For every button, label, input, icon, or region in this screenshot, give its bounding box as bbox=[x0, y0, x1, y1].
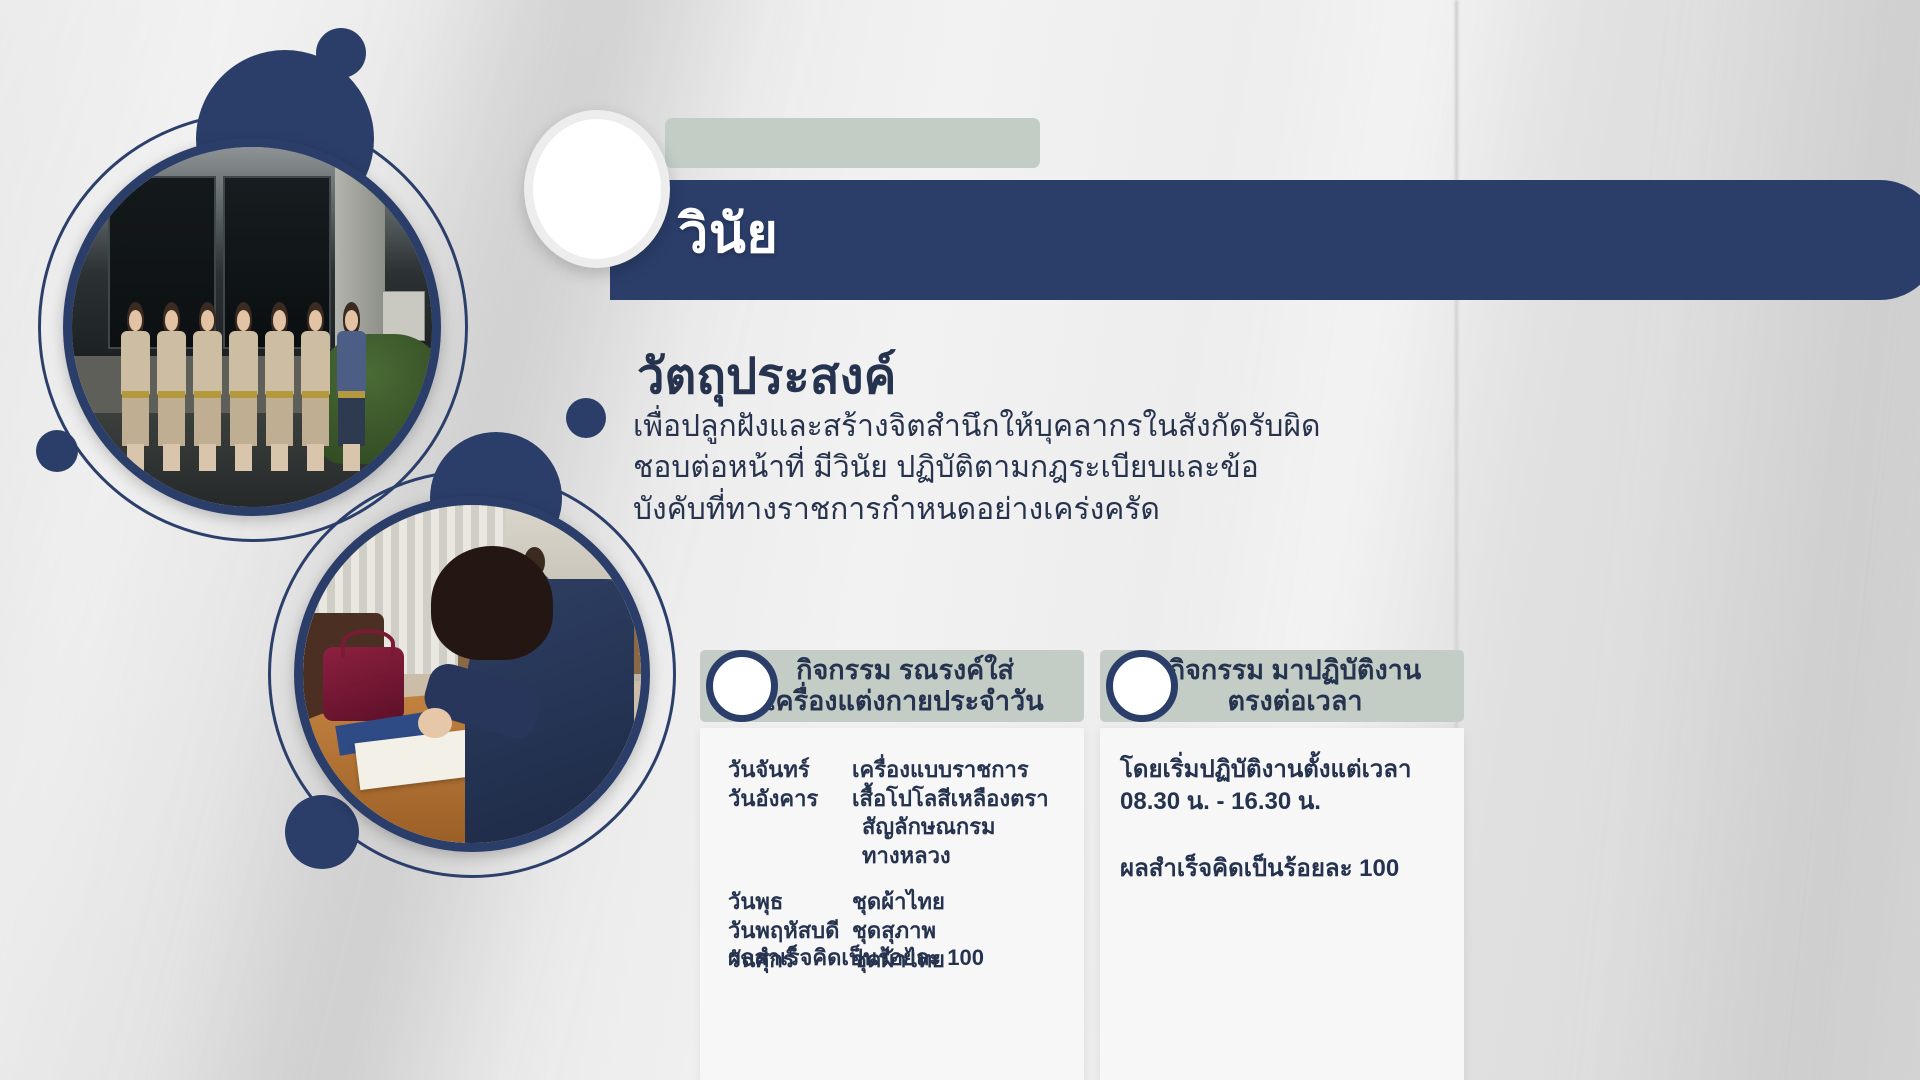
schedule-row: วันจันทร์ เครื่องแบบราชการ bbox=[728, 756, 1064, 785]
schedule-row: วันอังคาร เสื้อโปโลสีเหลืองตรา bbox=[728, 785, 1064, 814]
decorative-dot-top-right bbox=[316, 28, 366, 78]
card-body-punctuality: โดยเริ่มปฏิบัติงานตั้งแต่เวลา 08.30 น. -… bbox=[1100, 728, 1464, 1080]
schedule-dress-continuation: สัญลักษณกรมทางหลวง bbox=[728, 813, 1064, 870]
objective-body-text: เพื่อปลูกฝังและสร้างจิตสำนึกให้บุคลากรใน… bbox=[633, 406, 1323, 530]
card-header-line2: ตรงต่อเวลา bbox=[1227, 686, 1362, 716]
punctuality-detail-line2: 08.30 น. - 16.30 น. bbox=[1120, 788, 1321, 815]
card-ring-decoration bbox=[706, 650, 778, 722]
punctuality-result: ผลสำเร็จคิดเป็นร้อยละ 100 bbox=[1120, 848, 1399, 887]
card-ring-decoration bbox=[1106, 650, 1178, 722]
schedule-dress: เสื้อโปโลสีเหลืองตรา bbox=[852, 785, 1064, 814]
card-header-line2: เครื่องแต่งกายประจำวัน bbox=[766, 686, 1043, 716]
banner-accent-bar bbox=[665, 118, 1040, 168]
schedule-row: วันพุธ ชุดผ้าไทย bbox=[728, 888, 1064, 917]
schedule-day: วันอังคาร bbox=[728, 785, 852, 814]
photo-officer-signing-documents bbox=[294, 496, 650, 852]
schedule-day: วันพุธ bbox=[728, 888, 852, 917]
objective-heading: วัตถุประสงค์ bbox=[637, 337, 896, 415]
schedule-dress: เครื่องแบบราชการ bbox=[852, 756, 1064, 785]
punctuality-detail: โดยเริ่มปฏิบัติงานตั้งแต่เวลา 08.30 น. -… bbox=[1120, 754, 1450, 817]
activity-card-punctuality: กิจกรรม มาปฏิบัติงาน ตรงต่อเวลา โดยเริ่ม… bbox=[1100, 650, 1464, 1080]
slide-canvas: วินัย วัตถุประสงค์ เพื่อปลูกฝังและสร้างจ… bbox=[0, 0, 1920, 1080]
page-title: วินัย bbox=[678, 198, 778, 271]
activity-card-dress-code: กิจกรรม รณรงค์ใส่ เครื่องแต่งกายประจำวัน… bbox=[700, 650, 1084, 1080]
dress-code-result: ผลสำเร็จคิดเป็นร้อยละ 100 bbox=[728, 940, 984, 975]
background-shadow-streak bbox=[1558, 0, 1920, 1080]
card-header-line1: กิจกรรม มาปฏิบัติงาน bbox=[1169, 655, 1422, 685]
title-ring-decoration bbox=[524, 110, 670, 268]
decorative-dot-middle bbox=[566, 398, 606, 438]
schedule-day: วันจันทร์ bbox=[728, 756, 852, 785]
schedule-dress: ชุดผ้าไทย bbox=[852, 888, 1064, 917]
title-banner bbox=[610, 180, 1920, 300]
card-body-dress-code: วันจันทร์ เครื่องแบบราชการ วันอังคาร เสื… bbox=[700, 728, 1084, 1080]
punctuality-detail-line1: โดยเริ่มปฏิบัติงานตั้งแต่เวลา bbox=[1120, 756, 1411, 783]
photo-staff-lineup bbox=[63, 138, 441, 516]
schedule-spacer bbox=[728, 870, 1064, 888]
card-header-line1: กิจกรรม รณรงค์ใส่ bbox=[796, 655, 1014, 685]
